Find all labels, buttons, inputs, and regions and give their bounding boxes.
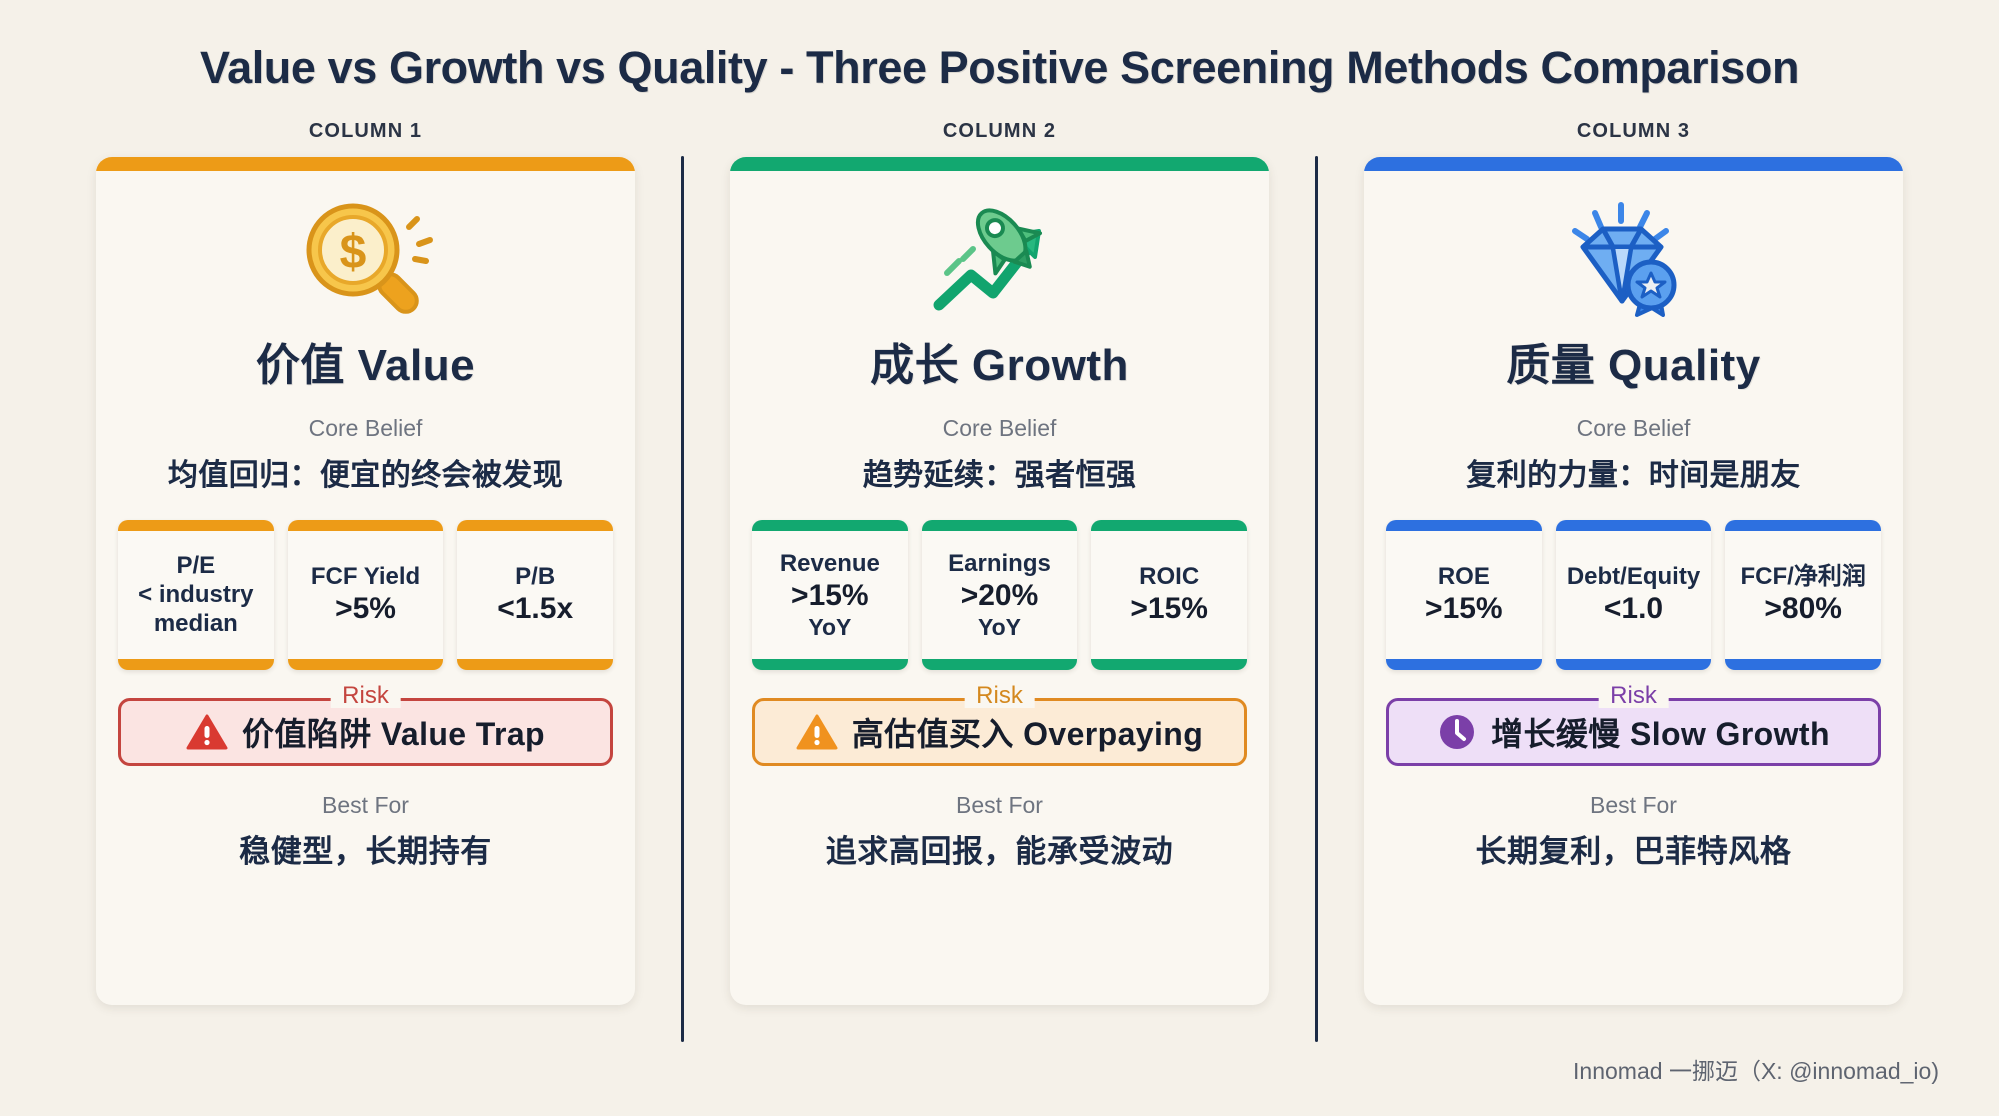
column-2: COLUMN 2 — [730, 120, 1269, 1005]
metric-top-bar — [118, 520, 274, 531]
risk-section: Risk 增长缓慢 Slow Growth — [1364, 698, 1903, 766]
metric-value: <1.5x — [497, 592, 573, 626]
risk-box[interactable]: Risk 价值陷阱 Value Trap — [118, 698, 613, 766]
svg-text:$: $ — [339, 226, 366, 279]
risk-section: Risk 价值陷阱 Value Trap — [96, 698, 635, 766]
metric-value: >15% — [791, 579, 869, 613]
metric-sub: YoY — [808, 614, 851, 640]
metric-body: FCF/净利润 >80% — [1725, 531, 1881, 659]
risk-text: 价值陷阱 Value Trap — [242, 709, 545, 755]
column-divider-1 — [681, 156, 684, 1042]
metric-value: >15% — [1130, 592, 1208, 626]
metric-sub: YoY — [978, 614, 1021, 640]
warning-triangle-icon — [186, 713, 228, 751]
clock-icon — [1437, 712, 1477, 752]
core-belief-text: 复利的力量：时间是朋友 — [1452, 450, 1814, 494]
metric-bottom-bar — [1556, 659, 1712, 670]
metric-label: P/B — [515, 563, 555, 591]
metric-box[interactable]: Earnings >20% YoY — [922, 520, 1078, 670]
metric-value: >80% — [1764, 592, 1842, 626]
best-for-text: 稳健型，长期持有 — [239, 826, 492, 871]
card-accent-bar — [730, 157, 1269, 171]
card-accent-bar — [96, 157, 635, 171]
card-heading: 成长 Growth — [870, 329, 1129, 393]
metric-body: Debt/Equity <1.0 — [1556, 531, 1712, 659]
best-for-caption: Best For — [1590, 792, 1677, 819]
metric-box[interactable]: P/E < industry median — [118, 520, 274, 670]
risk-box[interactable]: Risk 增长缓慢 Slow Growth — [1386, 698, 1881, 766]
metric-box[interactable]: FCF Yield >5% — [288, 520, 444, 670]
metric-top-bar — [752, 520, 908, 531]
risk-section: Risk 高估值买入 Overpaying — [730, 698, 1269, 766]
card-heading: 质量 Quality — [1506, 329, 1760, 393]
metric-bottom-bar — [922, 659, 1078, 670]
column-3: COLUMN 3 — [1364, 120, 1903, 1005]
rocket-growth-icon — [925, 197, 1075, 317]
card-quality[interactable]: 质量 Quality Core Belief 复利的力量：时间是朋友 ROE >… — [1364, 157, 1903, 1005]
metric-value: < industry — [138, 581, 253, 609]
metric-bottom-bar — [752, 659, 908, 670]
metric-top-bar — [1091, 520, 1247, 531]
metric-label: FCF Yield — [311, 563, 420, 591]
metric-bottom-bar — [1725, 659, 1881, 670]
metric-box[interactable]: Revenue >15% YoY — [752, 520, 908, 670]
core-belief-text: 趋势延续：强者恒强 — [849, 450, 1151, 494]
metric-bottom-bar — [288, 659, 444, 670]
metric-body: P/B <1.5x — [457, 531, 613, 659]
metric-bottom-bar — [457, 659, 613, 670]
metric-box[interactable]: FCF/净利润 >80% — [1725, 520, 1881, 670]
card-value[interactable]: $ 价值 Value Core Belief 均值回归：便宜的终会被发现 P/E… — [96, 157, 635, 1005]
core-belief-caption: Core Belief — [309, 415, 423, 442]
risk-text: 增长缓慢 Slow Growth — [1491, 709, 1830, 755]
column-1-label: COLUMN 1 — [309, 120, 422, 143]
core-belief-caption: Core Belief — [943, 415, 1057, 442]
core-belief-caption: Core Belief — [1577, 415, 1691, 442]
risk-legend: Risk — [1598, 684, 1669, 708]
columns-container: COLUMN 1 $ 价 — [0, 120, 1999, 1042]
metric-top-bar — [457, 520, 613, 531]
card-accent-bar — [1364, 157, 1903, 171]
metric-label: ROE — [1438, 563, 1490, 591]
attribution-footer: Innomad 一挪迈（X: @innomad_io) — [1573, 1052, 1939, 1086]
metric-body: Earnings >20% YoY — [922, 531, 1078, 659]
metric-box[interactable]: Debt/Equity <1.0 — [1556, 520, 1712, 670]
page-title: Value vs Growth vs Quality - Three Posit… — [0, 0, 1999, 94]
risk-box[interactable]: Risk 高估值买入 Overpaying — [752, 698, 1247, 766]
metric-top-bar — [1556, 520, 1712, 531]
metric-body: ROIC >15% — [1091, 531, 1247, 659]
infographic-page: Value vs Growth vs Quality - Three Posit… — [0, 0, 1999, 1116]
best-for-caption: Best For — [322, 792, 409, 819]
metric-label: P/E — [176, 552, 215, 580]
metric-value: >20% — [961, 579, 1039, 613]
metric-box[interactable]: ROE >15% — [1386, 520, 1542, 670]
metric-body: FCF Yield >5% — [288, 531, 444, 659]
diamond-award-icon — [1559, 197, 1709, 317]
metric-box[interactable]: P/B <1.5x — [457, 520, 613, 670]
best-for-caption: Best For — [956, 792, 1043, 819]
metric-label: ROIC — [1139, 563, 1199, 591]
metric-top-bar — [1386, 520, 1542, 531]
metric-top-bar — [288, 520, 444, 531]
metric-body: Revenue >15% YoY — [752, 531, 908, 659]
metric-bottom-bar — [1091, 659, 1247, 670]
card-heading: 价值 Value — [256, 329, 475, 393]
metric-label: FCF/净利润 — [1741, 563, 1866, 591]
metric-label: Earnings — [948, 550, 1051, 578]
metric-label: Debt/Equity — [1567, 563, 1700, 591]
metrics-row: P/E < industry median FCF Yield >5% — [96, 520, 635, 670]
metric-bottom-bar — [118, 659, 274, 670]
warning-triangle-icon — [796, 713, 838, 751]
column-1: COLUMN 1 $ 价 — [96, 120, 635, 1005]
best-for-text: 长期复利，巴菲特风格 — [1476, 826, 1792, 871]
risk-text: 高估值买入 Overpaying — [852, 709, 1203, 755]
core-belief-text: 均值回归：便宜的终会被发现 — [154, 450, 577, 494]
metric-box[interactable]: ROIC >15% — [1091, 520, 1247, 670]
metric-bottom-bar — [1386, 659, 1542, 670]
metric-value: >5% — [335, 592, 396, 626]
metrics-row: ROE >15% Debt/Equity <1.0 — [1364, 520, 1903, 670]
column-3-label: COLUMN 3 — [1577, 120, 1690, 143]
metric-value: <1.0 — [1604, 592, 1663, 626]
metric-label: Revenue — [780, 550, 880, 578]
risk-legend: Risk — [964, 684, 1035, 708]
magnifier-dollar-icon: $ — [291, 197, 441, 317]
metric-value: >15% — [1425, 592, 1503, 626]
metric-top-bar — [922, 520, 1078, 531]
best-for-text: 追求高回报，能承受波动 — [826, 826, 1174, 871]
risk-legend: Risk — [330, 684, 401, 708]
metric-top-bar — [1725, 520, 1881, 531]
metrics-row: Revenue >15% YoY Earnings >20% YoY — [730, 520, 1269, 670]
column-divider-2 — [1315, 156, 1318, 1042]
card-growth[interactable]: 成长 Growth Core Belief 趋势延续：强者恒强 Revenue … — [730, 157, 1269, 1005]
metric-body: P/E < industry median — [118, 531, 274, 659]
metric-sub: median — [154, 610, 238, 638]
column-2-label: COLUMN 2 — [943, 120, 1056, 143]
metric-body: ROE >15% — [1386, 531, 1542, 659]
